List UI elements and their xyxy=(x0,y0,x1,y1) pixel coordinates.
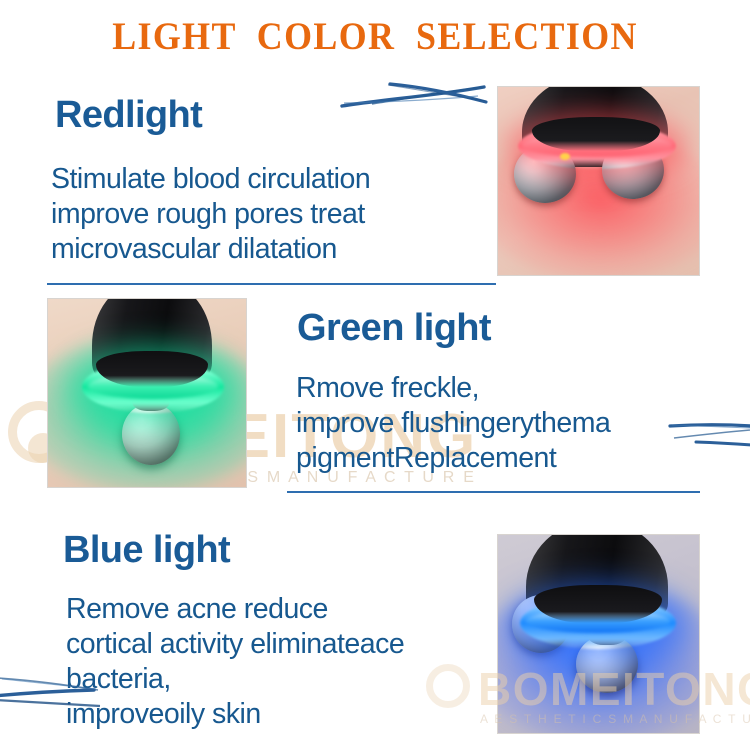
greenlight-heading: Green light xyxy=(297,307,491,350)
greenlight-body: Rmove freckle, improve flushingerythema … xyxy=(296,371,696,476)
redlight-photo xyxy=(497,86,700,276)
bluelight-heading: Blue light xyxy=(63,529,230,572)
led-hotspot xyxy=(560,153,570,160)
scribble-top-right-icon xyxy=(338,78,488,118)
probe-lower-shade xyxy=(534,585,662,623)
bluelight-photo xyxy=(497,534,700,734)
greenlight-photo xyxy=(47,298,247,488)
probe-lower-shade xyxy=(532,117,660,151)
redlight-heading: Redlight xyxy=(55,94,202,137)
scribble-middle-right-icon xyxy=(668,412,750,454)
divider-after-redlight xyxy=(47,283,496,285)
infographic-page: LIGHT COLOR SELECTION BOMEITONG A E S T … xyxy=(0,0,750,756)
divider-after-greenlight xyxy=(287,491,700,493)
bluelight-body: Remove acne reduce cortical activity eli… xyxy=(66,592,486,732)
scribble-bottom-left-icon xyxy=(0,660,104,712)
page-title: LIGHT COLOR SELECTION xyxy=(30,14,720,59)
redlight-body: Stimulate blood circulation improve roug… xyxy=(51,162,471,267)
probe-lower-shade xyxy=(96,351,208,387)
